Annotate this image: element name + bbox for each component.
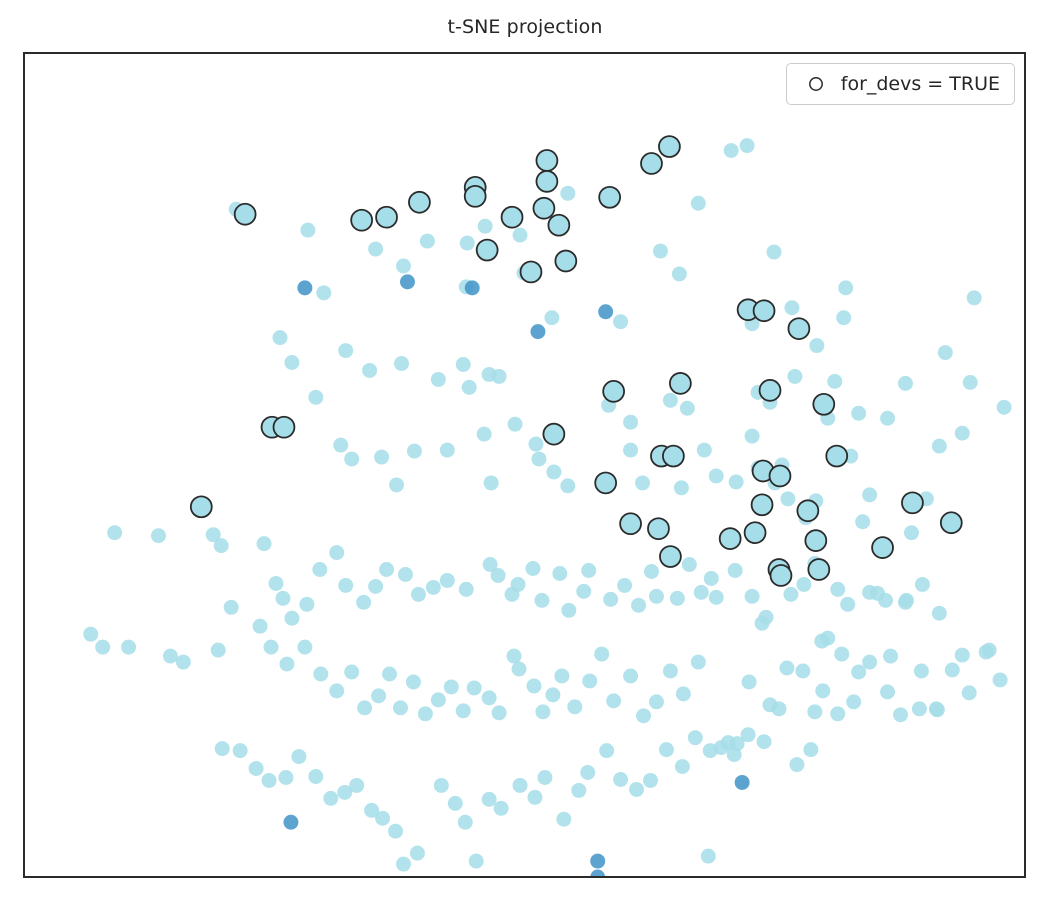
scatter-point <box>176 655 191 670</box>
scatter-point <box>979 645 994 660</box>
scatter-point <box>720 528 741 549</box>
scatter-point <box>368 579 383 594</box>
scatter-point <box>620 513 641 534</box>
scatter-point <box>525 561 540 576</box>
scatter-point <box>997 400 1012 415</box>
scatter-point <box>649 589 664 604</box>
scatter-point <box>398 567 413 582</box>
scatter-point <box>967 290 982 305</box>
scatter-series-2 <box>191 136 962 586</box>
scatter-point <box>757 734 772 749</box>
scatter-point <box>338 578 353 593</box>
scatter-point <box>945 663 960 678</box>
scatter-point <box>467 680 482 695</box>
scatter-point <box>659 136 680 157</box>
scatter-point <box>376 207 397 228</box>
scatter-point <box>511 577 526 592</box>
scatter-point <box>465 280 480 295</box>
scatter-point <box>297 640 312 655</box>
scatter-point <box>709 468 724 483</box>
scatter-point <box>617 578 632 593</box>
scatter-point <box>590 854 605 869</box>
scatter-point <box>535 704 550 719</box>
scatter-point <box>623 415 638 430</box>
scatter-point <box>826 446 847 467</box>
scatter-point <box>846 694 861 709</box>
scatter-point <box>643 773 658 788</box>
scatter-point <box>582 673 597 688</box>
scatter-point <box>459 582 474 597</box>
tsne-figure: t-SNE projection for_devs = TRUE <box>0 0 1050 900</box>
scatter-point <box>670 591 685 606</box>
scatter-point <box>929 701 944 716</box>
scatter-point <box>279 657 294 672</box>
scatter-point <box>513 778 528 793</box>
scatter-point <box>820 631 835 646</box>
scatter-point <box>316 285 331 300</box>
scatter-point <box>393 700 408 715</box>
scatter-point <box>448 796 463 811</box>
scatter-point <box>409 192 430 213</box>
scatter-point <box>898 376 913 391</box>
scatter-point <box>938 345 953 360</box>
scatter-point <box>649 694 664 709</box>
scatter-point <box>676 686 691 701</box>
scatter-point <box>420 234 435 249</box>
scatter-point <box>883 649 898 664</box>
scatter-point <box>458 815 473 830</box>
scatter-point <box>830 582 845 597</box>
scatter-point <box>808 559 829 580</box>
scatter-point <box>912 701 927 716</box>
scatter-point <box>813 394 834 415</box>
scatter-point <box>456 357 471 372</box>
scatter-point <box>284 355 299 370</box>
scatter-point <box>233 743 248 758</box>
scatter-point <box>477 240 498 261</box>
scatter-point <box>805 530 826 551</box>
scatter-point <box>780 491 795 506</box>
scatter-point <box>356 595 371 610</box>
scatter-point <box>682 557 697 572</box>
scatter-point <box>351 210 372 231</box>
scatter-point <box>728 563 743 578</box>
scatter-point <box>741 727 756 742</box>
scatter-point <box>264 640 279 655</box>
scatter-point <box>274 417 295 438</box>
scatter-point <box>745 429 760 444</box>
scatter-point <box>560 478 575 493</box>
scatter-point <box>357 700 372 715</box>
scatter-point <box>663 393 678 408</box>
scatter-point <box>552 566 567 581</box>
scatter-points-layer <box>25 54 1024 876</box>
scatter-point <box>396 857 411 872</box>
scatter-point <box>603 381 624 402</box>
scatter-point <box>269 576 284 591</box>
scatter-point <box>555 251 576 272</box>
scatter-point <box>344 452 359 467</box>
scatter-point <box>543 424 564 445</box>
scatter-point <box>544 310 559 325</box>
scatter-point <box>660 546 681 567</box>
scatter-point <box>904 525 919 540</box>
scatter-point <box>527 790 542 805</box>
scatter-point <box>278 770 293 785</box>
scatter-point <box>537 770 552 785</box>
scatter-point <box>807 704 822 719</box>
scatter-point <box>691 655 706 670</box>
scatter-point <box>434 778 449 793</box>
scatter-point <box>299 597 314 612</box>
scatter-point <box>914 664 929 679</box>
scatter-point <box>344 665 359 680</box>
scatter-point <box>796 577 811 592</box>
scatter-point <box>492 369 507 384</box>
scatter-point <box>275 591 290 606</box>
scatter-point <box>635 475 650 490</box>
scatter-point <box>362 363 377 378</box>
scatter-point <box>163 649 178 664</box>
scatter-point <box>830 706 845 721</box>
legend-entry-for-devs-true: for_devs = TRUE <box>799 73 1000 95</box>
scatter-point <box>273 330 288 345</box>
scatter-point <box>623 669 638 684</box>
scatter-point <box>803 742 818 757</box>
scatter-point <box>554 669 569 684</box>
scatter-point <box>862 655 877 670</box>
scatter-point <box>534 593 549 608</box>
scatter-point <box>724 143 739 158</box>
scatter-point <box>388 824 403 839</box>
scatter-point <box>880 684 895 699</box>
scatter-point <box>410 846 425 861</box>
scatter-point <box>963 375 978 390</box>
scatter-point <box>431 372 446 387</box>
scatter-point <box>932 606 947 621</box>
scatter-point <box>855 514 870 529</box>
scatter-point <box>478 219 493 234</box>
plot-area: for_devs = TRUE <box>23 52 1026 878</box>
scatter-point <box>788 318 809 339</box>
scatter-point <box>581 563 596 578</box>
scatter-series-0 <box>83 138 1011 871</box>
scatter-point <box>680 401 695 416</box>
scatter-point <box>688 730 703 745</box>
scatter-point <box>411 587 426 602</box>
scatter-svg <box>25 54 1024 876</box>
scatter-point <box>598 304 613 319</box>
scatter-point <box>932 439 947 454</box>
scatter-point <box>492 705 507 720</box>
scatter-point <box>215 741 230 756</box>
scatter-point <box>477 427 492 442</box>
scatter-point <box>407 444 422 459</box>
scatter-point <box>955 648 970 663</box>
scatter-point <box>460 236 475 251</box>
scatter-point <box>107 525 122 540</box>
scatter-point <box>507 649 522 664</box>
scatter-point <box>729 474 744 489</box>
scatter-point <box>560 186 575 201</box>
scatter-point <box>623 443 638 458</box>
scatter-point <box>770 465 791 486</box>
scatter-point <box>567 699 582 714</box>
scatter-point <box>827 374 842 389</box>
scatter-point <box>613 772 628 787</box>
scatter-point <box>701 849 716 864</box>
scatter-point <box>767 245 782 260</box>
scatter-point <box>482 690 497 705</box>
scatter-point <box>870 586 885 601</box>
scatter-point <box>631 598 646 613</box>
scatter-point <box>599 743 614 758</box>
scatter-point <box>641 153 662 174</box>
scatter-point <box>484 475 499 490</box>
scatter-point <box>462 380 477 395</box>
scatter-point <box>312 562 327 577</box>
scatter-point <box>456 703 471 718</box>
scatter-point <box>494 801 509 816</box>
scatter-point <box>389 477 404 492</box>
scatter-point <box>512 662 527 677</box>
scatter-point <box>809 338 824 353</box>
scatter-point <box>546 465 561 480</box>
scatter-point <box>440 573 455 588</box>
scatter-point <box>755 616 770 631</box>
scatter-point <box>603 592 618 607</box>
scatter-point <box>545 687 560 702</box>
scatter-point <box>329 683 344 698</box>
scatter-point <box>893 707 908 722</box>
scatter-point <box>941 512 962 533</box>
scatter-point <box>697 443 712 458</box>
scatter-point <box>526 678 541 693</box>
scatter-point <box>735 775 750 790</box>
scatter-point <box>396 259 411 274</box>
scatter-point <box>772 701 787 716</box>
scatter-point <box>962 685 977 700</box>
scatter-point <box>740 138 755 153</box>
scatter-point <box>313 667 328 682</box>
scatter-point <box>815 683 830 698</box>
scatter-point <box>253 619 268 634</box>
scatter-point <box>502 207 523 228</box>
scatter-point <box>257 536 272 551</box>
scatter-point <box>704 571 719 586</box>
legend: for_devs = TRUE <box>786 63 1015 105</box>
scatter-point <box>530 324 545 339</box>
scatter-point <box>745 522 766 543</box>
scatter-point <box>491 568 506 583</box>
scatter-point <box>789 757 804 772</box>
scatter-point <box>211 643 226 658</box>
scatter-point <box>659 742 674 757</box>
scatter-point <box>533 198 554 219</box>
scatter-point <box>694 585 709 600</box>
scatter-point <box>513 228 528 243</box>
scatter-point <box>394 356 409 371</box>
scatter-point <box>482 792 497 807</box>
scatter-point <box>840 597 855 612</box>
scatter-point <box>235 204 256 225</box>
scatter-point <box>663 446 684 467</box>
scatter-point <box>444 679 459 694</box>
scatter-point <box>648 518 669 539</box>
scatter-point <box>787 369 802 384</box>
scatter-point <box>691 196 706 211</box>
scatter-point <box>224 600 239 615</box>
scatter-point <box>368 242 383 257</box>
scatter-point <box>308 390 323 405</box>
scatter-point <box>915 577 930 592</box>
scatter-point <box>672 266 687 281</box>
circle-open-icon <box>799 75 833 93</box>
scatter-point <box>595 472 616 493</box>
scatter-point <box>329 545 344 560</box>
scatter-point <box>382 667 397 682</box>
scatter-point <box>548 215 569 236</box>
scatter-point <box>508 417 523 432</box>
scatter-point <box>249 761 264 776</box>
scatter-point <box>590 870 605 876</box>
scatter-point <box>431 692 446 707</box>
scatter-point <box>297 280 312 295</box>
scatter-point <box>851 406 866 421</box>
scatter-point <box>284 611 299 626</box>
scatter-point <box>95 640 110 655</box>
scatter-point <box>349 778 364 793</box>
legend-label: for_devs = TRUE <box>833 73 1000 95</box>
scatter-point <box>606 693 621 708</box>
scatter-point <box>675 759 690 774</box>
scatter-point <box>283 815 298 830</box>
scatter-point <box>121 640 136 655</box>
scatter-point <box>308 769 323 784</box>
scatter-point <box>375 811 390 826</box>
scatter-point <box>379 562 394 577</box>
scatter-point <box>754 300 775 321</box>
scatter-point <box>955 426 970 441</box>
scatter-point <box>521 261 542 282</box>
scatter-point <box>670 373 691 394</box>
scatter-point <box>783 587 798 602</box>
scatter-point <box>418 706 433 721</box>
scatter-point <box>663 664 678 679</box>
scatter-point <box>469 854 484 869</box>
scatter-point <box>795 664 810 679</box>
scatter-point <box>993 672 1008 687</box>
scatter-point <box>727 747 742 762</box>
scatter-point <box>709 590 724 605</box>
scatter-point <box>531 452 546 467</box>
scatter-point <box>374 450 389 465</box>
scatter-point <box>465 186 486 207</box>
scatter-point <box>83 627 98 642</box>
scatter-point <box>771 565 792 586</box>
scatter-point <box>745 589 760 604</box>
scatter-point <box>556 812 571 827</box>
scatter-point <box>338 343 353 358</box>
scatter-point <box>536 171 557 192</box>
scatter-point <box>779 661 794 676</box>
scatter-point <box>151 528 166 543</box>
scatter-point <box>784 300 799 315</box>
scatter-point <box>760 380 781 401</box>
scatter-point <box>594 647 609 662</box>
scatter-point <box>191 496 212 517</box>
scatter-point <box>576 584 591 599</box>
scatter-point <box>599 187 620 208</box>
scatter-point <box>561 603 576 618</box>
scatter-point <box>291 749 306 764</box>
scatter-point <box>426 580 441 595</box>
scatter-point <box>797 500 818 521</box>
scatter-point <box>742 674 757 689</box>
scatter-point <box>898 595 913 610</box>
scatter-point <box>629 782 644 797</box>
scatter-point <box>880 411 895 426</box>
scatter-point <box>371 688 386 703</box>
scatter-point <box>580 765 595 780</box>
scatter-point <box>440 443 455 458</box>
scatter-point <box>834 647 849 662</box>
scatter-point <box>636 708 651 723</box>
scatter-point <box>674 480 689 495</box>
scatter-point <box>571 783 586 798</box>
scatter-point <box>752 494 773 515</box>
scatter-point <box>902 492 923 513</box>
scatter-point <box>836 310 851 325</box>
scatter-point <box>323 791 338 806</box>
scatter-point <box>400 274 415 289</box>
scatter-point <box>862 487 877 502</box>
scatter-point <box>872 537 893 558</box>
scatter-point <box>838 280 853 295</box>
scatter-point <box>613 314 628 329</box>
scatter-point <box>714 740 729 755</box>
page-title: t-SNE projection <box>0 16 1050 38</box>
scatter-point <box>333 438 348 453</box>
scatter-point <box>406 674 421 689</box>
scatter-point <box>528 437 543 452</box>
scatter-point <box>262 773 277 788</box>
scatter-point <box>214 538 229 553</box>
scatter-point <box>644 564 659 579</box>
scatter-point <box>536 150 557 171</box>
scatter-point <box>653 244 668 259</box>
scatter-point <box>300 223 315 238</box>
